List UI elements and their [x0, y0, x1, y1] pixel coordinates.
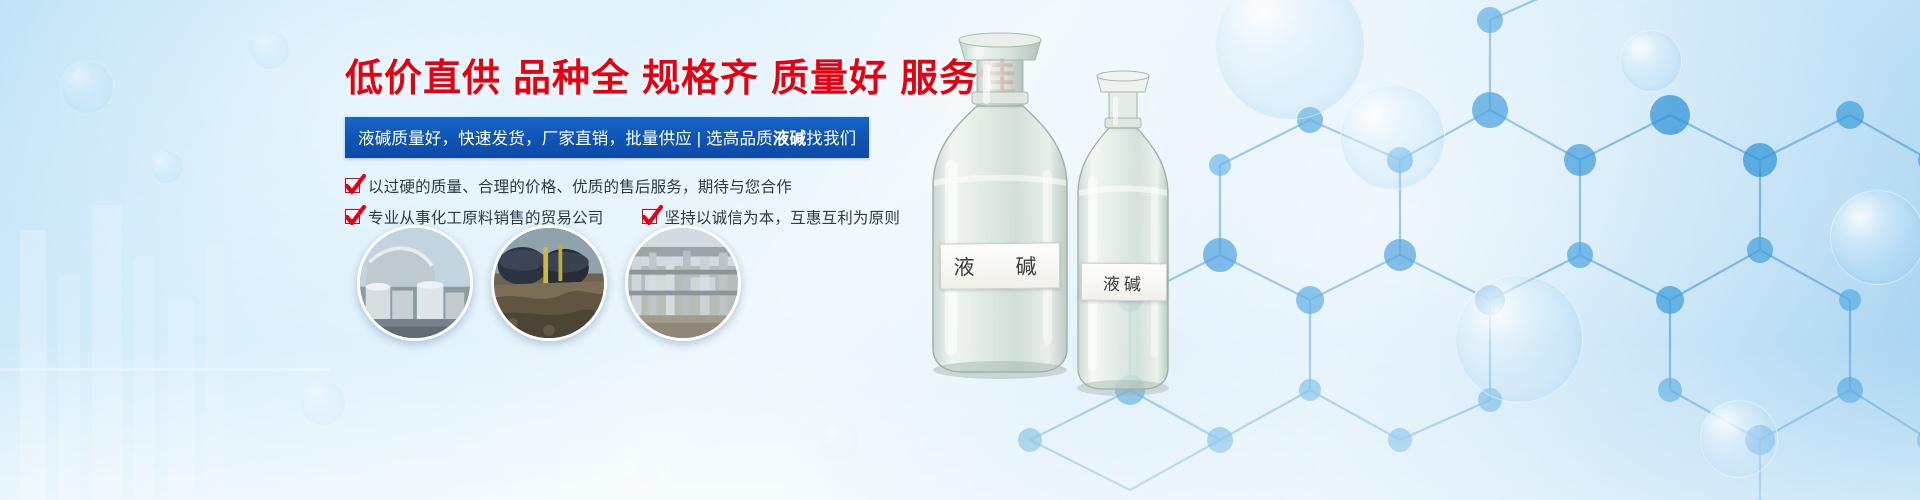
large-bottle: 液 碱	[915, 30, 1085, 380]
photo-thumbnail-strip	[357, 225, 741, 341]
subtitle-text: 液碱质量好，快速发货，厂家直销，批量供应 | 选高品质	[358, 130, 773, 148]
small-bottle-label: 液碱	[1081, 263, 1167, 302]
selling-points-row: 以过硬的质量、合理的价格、优质的售后服务，期待与您合作	[345, 175, 905, 197]
bubble-decoration	[1620, 30, 1682, 92]
product-banner: 低价直供品种全规格齐质量好服务佳 液碱质量好，快速发货，厂家直销，批量供应 | …	[0, 0, 1920, 500]
reactor-vessels-photo[interactable]	[491, 225, 607, 341]
bubble-decoration	[820, 420, 860, 460]
headline-segment: 规格齐	[642, 58, 759, 100]
bubble-decoration	[1830, 190, 1920, 285]
headline-segment: 品种全	[513, 58, 630, 100]
banner-headline: 低价直供品种全规格齐质量好服务佳	[345, 58, 905, 102]
bubble-decoration	[1455, 275, 1583, 403]
bubble-decoration	[300, 380, 346, 426]
list-item: 以过硬的质量、合理的价格、优质的售后服务，期待与您合作	[345, 175, 792, 197]
storage-tank-farm-photo[interactable]	[357, 225, 473, 341]
bubble-decoration	[150, 150, 184, 184]
bubble-decoration	[60, 60, 114, 114]
small-bottle: 液碱	[1063, 68, 1183, 398]
banner-subtitle-bar: 液碱质量好，快速发货，厂家直销，批量供应 | 选高品质液碱找我们	[345, 117, 869, 158]
subtitle-tail: 找我们	[806, 130, 856, 148]
bubble-decoration	[1700, 400, 1778, 478]
headline-segment: 质量好	[771, 58, 888, 100]
vertical-bars-decoration	[0, 0, 330, 500]
product-bottles-group: 液 碱	[905, 18, 1245, 488]
banner-copy-block: 低价直供品种全规格齐质量好服务佳 液碱质量好，快速发货，厂家直销，批量供应 | …	[345, 58, 905, 237]
check-mark-icon	[642, 209, 657, 224]
bubble-decoration	[1340, 85, 1445, 190]
list-item-label: 以过硬的质量、合理的价格、优质的售后服务，期待与您合作	[368, 175, 792, 197]
check-mark-icon	[345, 209, 360, 224]
bubble-decoration	[250, 30, 290, 70]
check-mark-icon	[345, 178, 360, 193]
plant-facility-photo[interactable]	[625, 225, 741, 341]
large-bottle-label: 液 碱	[940, 242, 1060, 289]
subtitle-keyword: 液碱	[773, 130, 806, 148]
headline-segment: 低价直供	[345, 58, 501, 100]
selling-points-list: 以过硬的质量、合理的价格、优质的售后服务，期待与您合作 专业从事化工原料销售的贸…	[345, 175, 905, 228]
